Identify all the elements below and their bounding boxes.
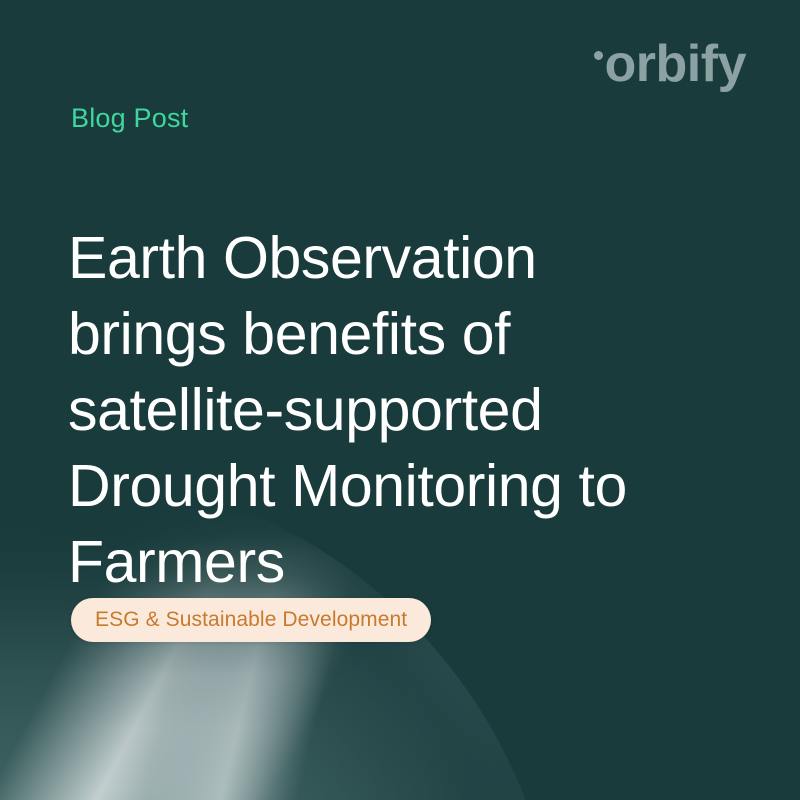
title-line: Drought Monitoring to (68, 448, 728, 524)
category-badge-label: ESG & Sustainable Development (95, 608, 407, 632)
page-title: Earth Observation brings benefits of sat… (68, 220, 728, 600)
content-type-eyebrow: Blog Post (71, 103, 188, 134)
title-line: brings benefits of (68, 296, 728, 372)
orbify-logo[interactable]: orbify (594, 38, 746, 90)
orbit-dot-icon (594, 51, 603, 60)
title-line: Earth Observation (68, 220, 728, 296)
orbify-logo-text: orbify (605, 38, 746, 90)
blog-post-cover-card: orbify Blog Post Earth Observation bring… (0, 0, 800, 800)
title-line: Farmers (68, 524, 728, 600)
title-line: satellite-supported (68, 372, 728, 448)
category-badge[interactable]: ESG & Sustainable Development (71, 598, 431, 642)
